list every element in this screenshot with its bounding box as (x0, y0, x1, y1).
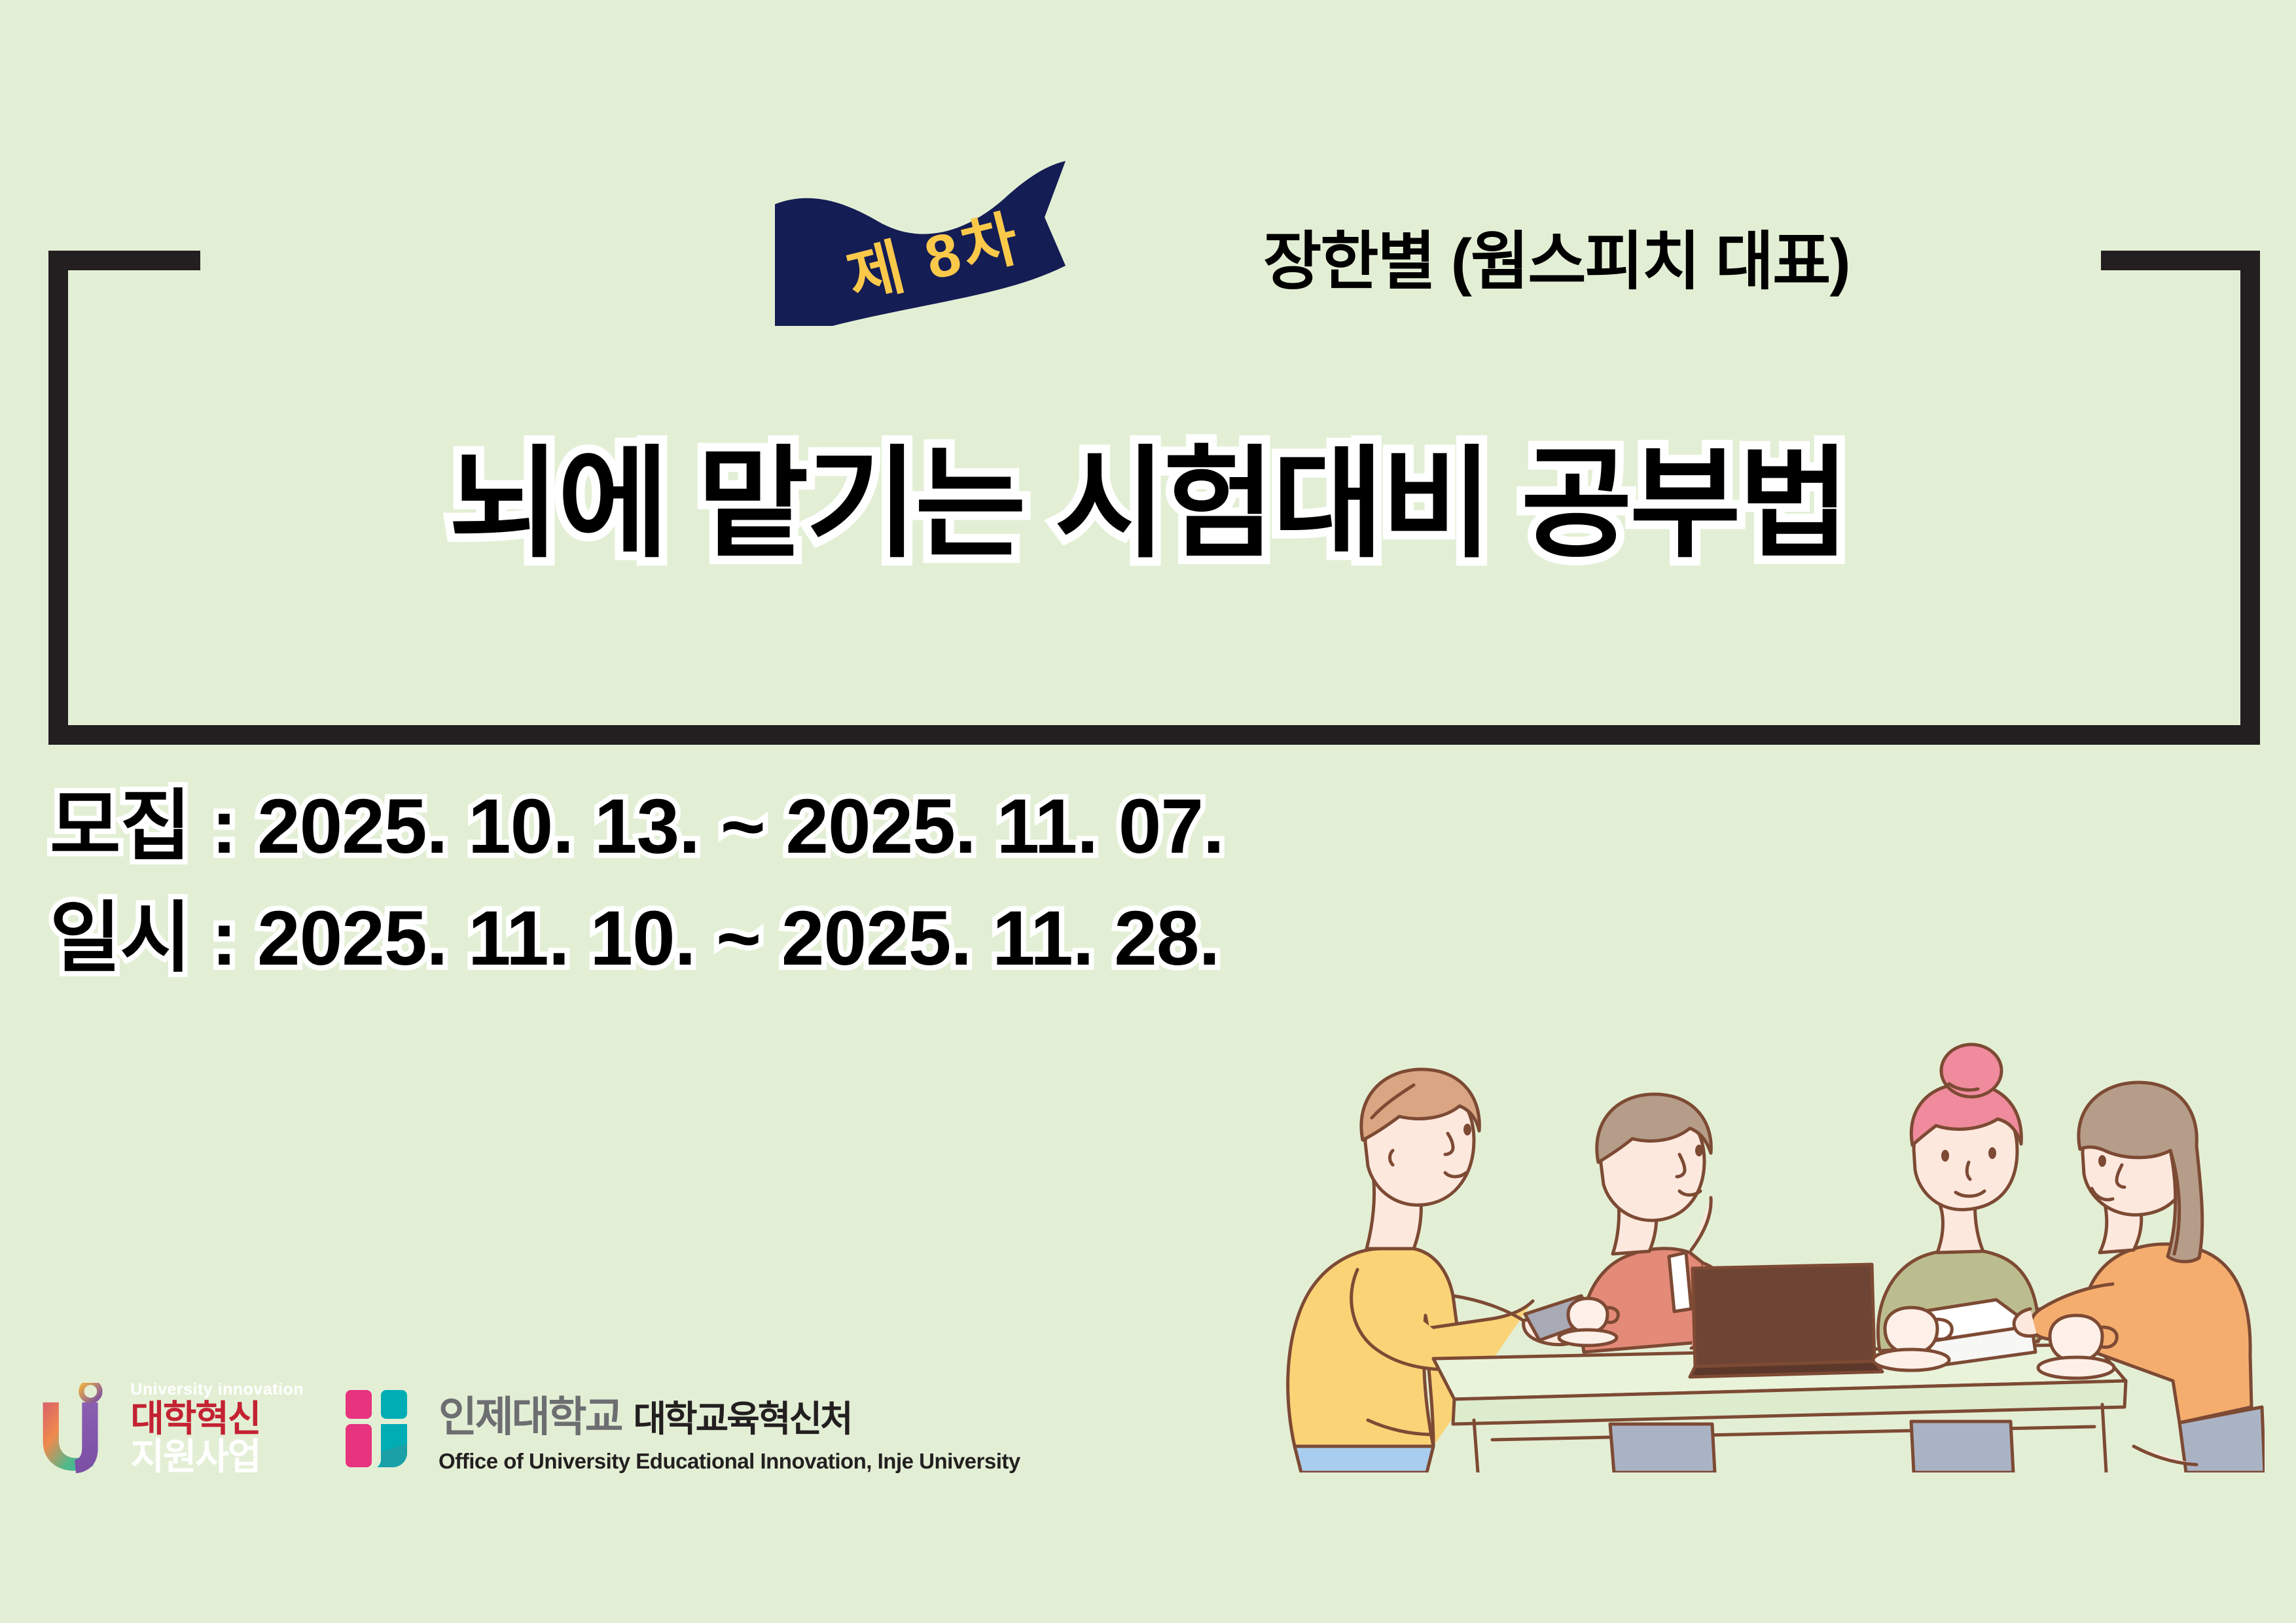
inje-logo-text: 인제대학교 대학교육혁신처 Office of University Educa… (439, 1383, 1020, 1474)
inje-department-name: 대학교육혁신처 (633, 1389, 851, 1442)
inje-ij-mark-icon (344, 1386, 423, 1471)
recruitment-period: 모집 : 2025. 10. 13. ~ 2025. 11. 07. (50, 771, 1224, 883)
page-title: 뇌에 맡기는 시험대비 공부법 (0, 406, 2296, 581)
ui-gradient-u-icon (39, 1383, 118, 1474)
session-number-flag: 제 8차 (770, 161, 1077, 330)
university-innovation-logo: University innovation 대학혁신 지원사업 (39, 1370, 304, 1488)
ui-korean-line-2: 지원사업 (130, 1438, 304, 1475)
poster-root: 제 8차 장한별 (웜스피치 대표) 뇌에 맡기는 시험대비 공부법 모집 : … (0, 0, 2296, 1623)
session-period: 일시 : 2025. 11. 10. ~ 2025. 11. 28. (50, 883, 1224, 995)
four-people-at-table-icon (1217, 988, 2265, 1472)
frame-bottom-segment (48, 725, 2260, 745)
frame-top-left-segment (48, 251, 200, 270)
inje-english-label: Office of University Educational Innovat… (439, 1449, 1020, 1474)
inje-university-logo: 인제대학교 대학교육혁신처 Office of University Educa… (344, 1370, 1020, 1488)
speaker-name: 장한별 (웜스피치 대표) (1263, 209, 1850, 302)
frame-top-right-segment (2101, 251, 2260, 270)
ui-logo-text: University innovation 대학혁신 지원사업 (130, 1382, 304, 1475)
study-group-illustration (1217, 988, 2265, 1472)
inje-university-name: 인제대학교 (439, 1383, 621, 1444)
ui-english-label: University innovation (130, 1382, 304, 1398)
schedule-info: 모집 : 2025. 10. 13. ~ 2025. 11. 07. 일시 : … (50, 771, 1224, 995)
ui-korean-line-1: 대학혁신 (130, 1400, 304, 1437)
footer-logos: University innovation 대학혁신 지원사업 인제대학교 대학… (39, 1358, 1020, 1499)
